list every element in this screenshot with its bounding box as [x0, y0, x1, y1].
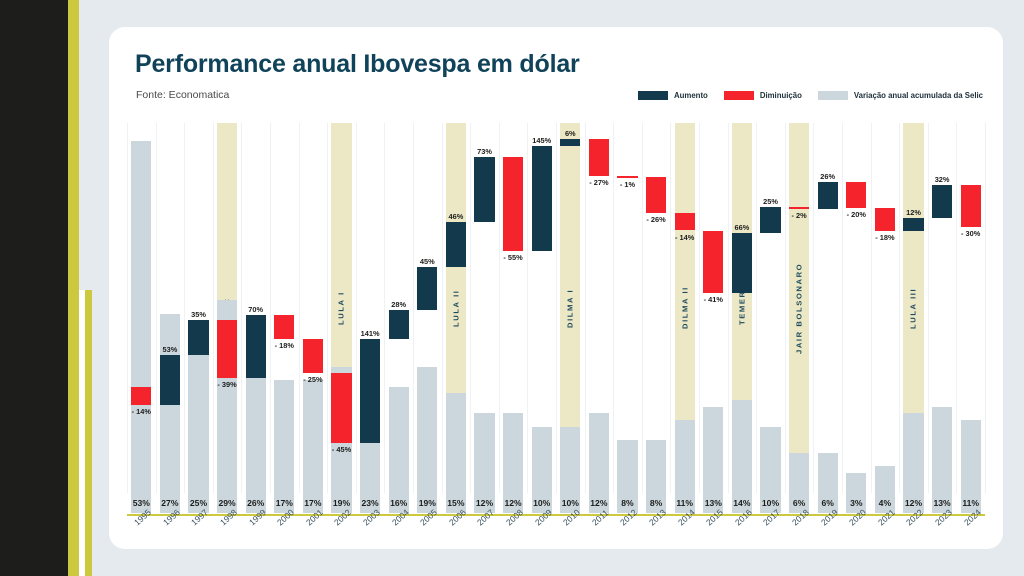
waterfall-value-label: - 20% [840, 210, 872, 219]
waterfall-value-label: 66% [726, 223, 758, 232]
gridline [213, 123, 214, 493]
selic-column [932, 407, 952, 493]
waterfall-value-label: - 14% [669, 233, 701, 242]
selic-column [703, 407, 723, 493]
selic-column [532, 427, 552, 493]
selic-column [417, 367, 437, 493]
selic-column [446, 393, 466, 493]
waterfall-value-label: 73% [468, 147, 500, 156]
waterfall-bar-decrease [589, 139, 609, 176]
brand-rail-accent [68, 0, 79, 576]
waterfall-value-label: 28% [383, 300, 415, 309]
gridline [156, 123, 157, 493]
gridline [470, 123, 471, 493]
selic-column [875, 466, 895, 493]
selic-column [474, 413, 494, 493]
waterfall-value-label: - 25% [297, 375, 329, 384]
waterfall-bar-increase [932, 185, 952, 218]
selic-column [818, 453, 838, 493]
waterfall-bar-increase [417, 267, 437, 311]
gridline [556, 123, 557, 493]
legend-label: Aumento [674, 91, 708, 100]
selic-column [675, 420, 695, 493]
selic-column [274, 380, 294, 493]
selic-column [789, 453, 809, 493]
gridline [785, 123, 786, 493]
legend-swatch [638, 91, 668, 100]
waterfall-bar-decrease [331, 373, 351, 443]
gridline [642, 123, 643, 493]
waterfall-value-label: - 27% [583, 178, 615, 187]
gridline [699, 123, 700, 493]
waterfall-bar-increase [160, 355, 180, 405]
legend-label: Variação anual acumulada da Selic [854, 91, 983, 100]
selic-column [961, 420, 981, 493]
chart-legend: AumentoDiminuiçãoVariação anual acumulad… [638, 91, 983, 100]
president-term-band: JAIR BOLSONARO [789, 123, 809, 493]
screenshot-root: ECONOMATICA ESTUDO BY Performance anual … [0, 0, 1024, 576]
gridline [756, 123, 757, 493]
waterfall-bar-decrease [846, 182, 866, 208]
gridline [499, 123, 500, 493]
legend-item: Variação anual acumulada da Selic [818, 91, 983, 100]
waterfall-bar-decrease [303, 339, 323, 373]
gridline [985, 123, 986, 493]
waterfall-value-label: - 18% [268, 341, 300, 350]
gridline [670, 123, 671, 493]
waterfall-bar-decrease [789, 207, 809, 209]
brand-rail [0, 0, 68, 576]
selic-column [589, 413, 609, 493]
waterfall-value-label: - 55% [497, 253, 529, 262]
waterfall-bar-decrease [274, 315, 294, 338]
waterfall-bar-decrease [503, 157, 523, 251]
gridline [871, 123, 872, 493]
waterfall-value-label: - 18% [869, 233, 901, 242]
waterfall-value-label: 32% [926, 175, 958, 184]
waterfall-value-label: - 41% [697, 295, 729, 304]
waterfall-value-label: - 14% [125, 407, 157, 416]
waterfall-value-label: 35% [182, 310, 214, 319]
legend-item: Aumento [638, 91, 708, 100]
selic-column [131, 141, 151, 493]
waterfall-value-label: - 26% [640, 215, 672, 224]
selic-column [303, 380, 323, 493]
selic-column [389, 387, 409, 493]
gridline [299, 123, 300, 493]
waterfall-value-label: - 39% [211, 380, 243, 389]
waterfall-bar-increase [246, 315, 266, 378]
waterfall-value-label: 12% [897, 208, 929, 217]
waterfall-bar-decrease [646, 177, 666, 212]
legend-swatch [724, 91, 754, 100]
waterfall-value-label: 141% [354, 329, 386, 338]
waterfall-bar-increase [188, 320, 208, 355]
waterfall-bar-decrease [617, 176, 637, 178]
chart-plot-area: FHCLULA ILULA IIDILMA IDILMA IITEMERJAIR… [127, 123, 985, 513]
chart-source: Fonte: Economatica [136, 89, 229, 101]
selic-column [503, 413, 523, 493]
waterfall-value-label: 6% [554, 129, 586, 138]
waterfall-value-label: 26% [812, 172, 844, 181]
legend-swatch [818, 91, 848, 100]
gridline [527, 123, 528, 493]
legend-label: Diminuição [760, 91, 802, 100]
waterfall-bar-decrease [217, 320, 237, 378]
gridline [899, 123, 900, 493]
x-axis-year-labels: 1995199619971998199920002001200220032004… [127, 516, 985, 556]
waterfall-value-label: - 30% [955, 229, 987, 238]
selic-column [846, 473, 866, 493]
waterfall-bar-increase [818, 182, 838, 209]
waterfall-value-label: - 1% [611, 180, 643, 189]
selic-column [903, 413, 923, 493]
waterfall-value-label: 53% [154, 345, 186, 354]
selic-column [617, 440, 637, 493]
president-term-label: JAIR BOLSONARO [789, 123, 809, 493]
waterfall-value-label: 70% [240, 305, 272, 314]
waterfall-bar-decrease [875, 208, 895, 231]
waterfall-value-label: - 2% [783, 211, 815, 220]
selic-column [760, 427, 780, 493]
gridline [356, 123, 357, 493]
waterfall-bar-increase [732, 233, 752, 293]
gridline [127, 123, 128, 493]
waterfall-bar-increase [760, 207, 780, 233]
waterfall-value-label: - 45% [325, 445, 357, 454]
page-title: Performance anual Ibovespa em dólar [135, 50, 580, 79]
waterfall-bar-decrease [131, 387, 151, 405]
waterfall-bar-decrease [961, 185, 981, 227]
waterfall-bar-increase [560, 139, 580, 146]
gridline [728, 123, 729, 493]
waterfall-value-label: 46% [440, 212, 472, 221]
gridline [442, 123, 443, 493]
waterfall-bar-decrease [703, 231, 723, 293]
waterfall-bar-increase [532, 146, 552, 252]
waterfall-value-label: 145% [526, 136, 558, 145]
waterfall-bar-decrease [675, 213, 695, 231]
chart-card: Performance anual Ibovespa em dólar Font… [109, 27, 1003, 549]
waterfall-bar-increase [446, 222, 466, 267]
selic-column [646, 440, 666, 493]
selic-column [732, 400, 752, 493]
gridline [327, 123, 328, 493]
selic-column [560, 427, 580, 493]
waterfall-bar-increase [389, 310, 409, 339]
waterfall-bar-increase [474, 157, 494, 222]
brand-rail-accent-yellow-lower [85, 290, 92, 576]
waterfall-value-label: 25% [754, 197, 786, 206]
gridline [184, 123, 185, 493]
legend-item: Diminuição [724, 91, 802, 100]
waterfall-bar-increase [903, 218, 923, 231]
waterfall-bar-increase [360, 339, 380, 443]
waterfall-value-label: 45% [411, 257, 443, 266]
